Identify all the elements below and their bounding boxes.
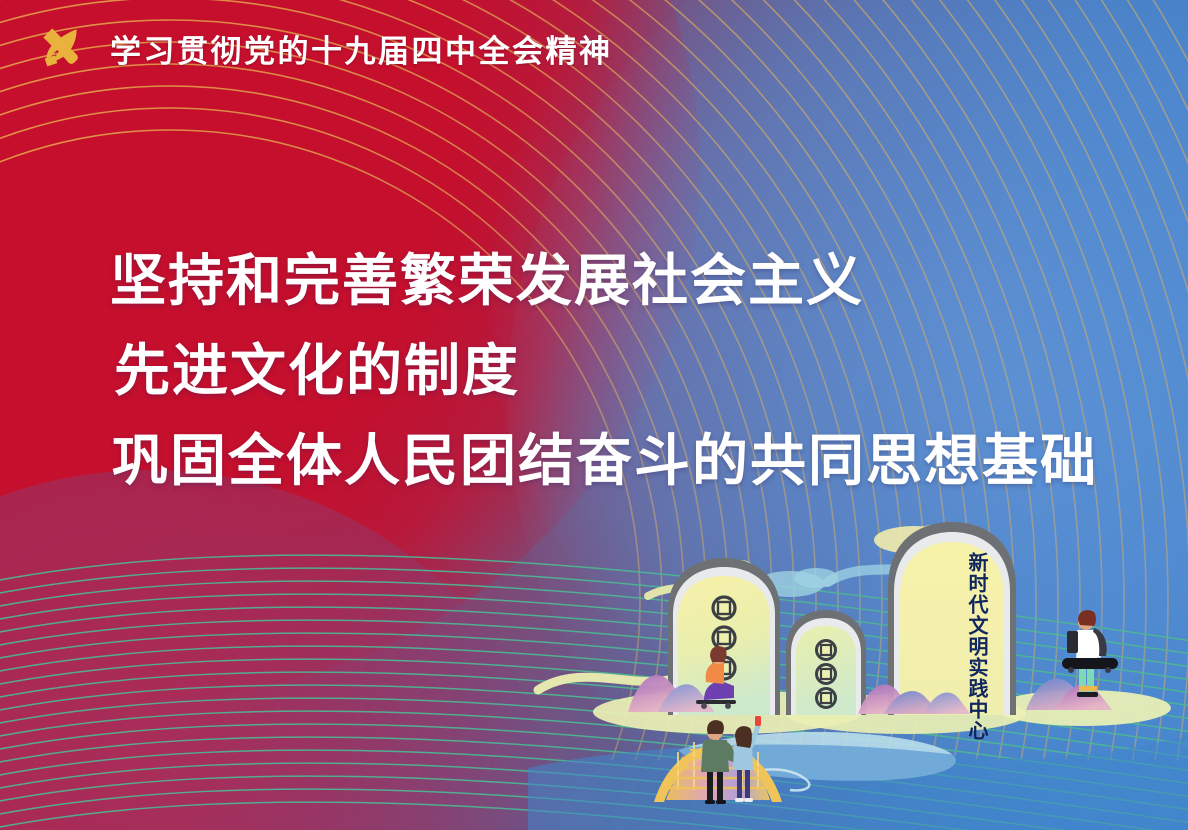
building-right <box>888 522 1016 715</box>
illustration-scene <box>528 500 1188 830</box>
header: 学习贯彻党的十九届四中全会精神 <box>36 22 613 74</box>
headline-line-1: 坚持和完善繁荣发展社会主义 <box>110 236 1098 326</box>
headline-line-2: 先进文化的制度 <box>114 326 1098 416</box>
headline-line-3: 巩固全体人民团结奋斗的共同思想基础 <box>112 416 1098 506</box>
building-label-vertical: 新时代文明实践中心 <box>962 552 988 741</box>
building-middle <box>786 610 866 715</box>
party-emblem-icon <box>36 22 88 74</box>
headline-block: 坚持和完善繁荣发展社会主义 先进文化的制度 巩固全体人民团结奋斗的共同思想基础 <box>110 236 1098 506</box>
poster-canvas: 学习贯彻党的十九届四中全会精神 坚持和完善繁荣发展社会主义 先进文化的制度 巩固… <box>0 0 1188 830</box>
figure-standing-skateboarder <box>1062 610 1118 697</box>
header-title: 学习贯彻党的十九届四中全会精神 <box>110 26 613 71</box>
